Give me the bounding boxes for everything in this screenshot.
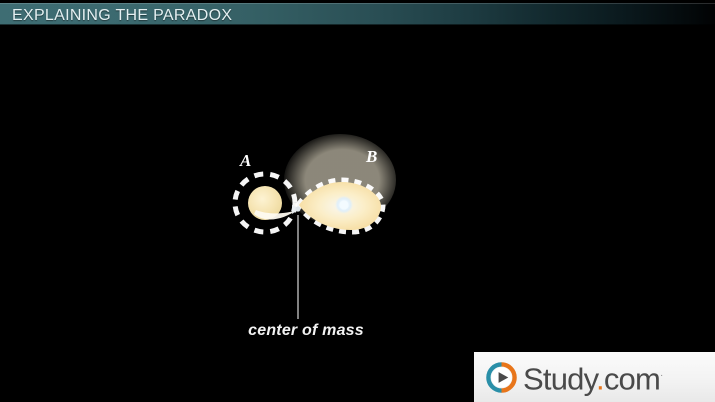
studycom-wordmark: Study.com· [523, 360, 663, 394]
logo-tld-text: com [604, 361, 660, 396]
slide-header-bar: EXPLAINING THE PARADOX [0, 3, 715, 25]
logo-brand-text: Study [523, 361, 596, 396]
logo-dot: . [596, 361, 604, 396]
star-a-label: A [240, 151, 252, 171]
binary-star-diagram [0, 25, 715, 402]
slide-canvas: EXPLAINING THE PARADOX [0, 0, 715, 402]
lagrange-point-marker [295, 206, 300, 211]
studycom-logo[interactable]: Study.com· [474, 352, 715, 402]
diagram-stage: A B center of mass [0, 25, 715, 402]
star-b-core-inner [339, 200, 348, 209]
play-circle-icon [486, 362, 517, 393]
logo-trademark: · [660, 370, 663, 381]
page-title: EXPLAINING THE PARADOX [12, 8, 232, 24]
center-of-mass-label: center of mass [246, 322, 366, 340]
star-b-label: B [366, 147, 378, 167]
